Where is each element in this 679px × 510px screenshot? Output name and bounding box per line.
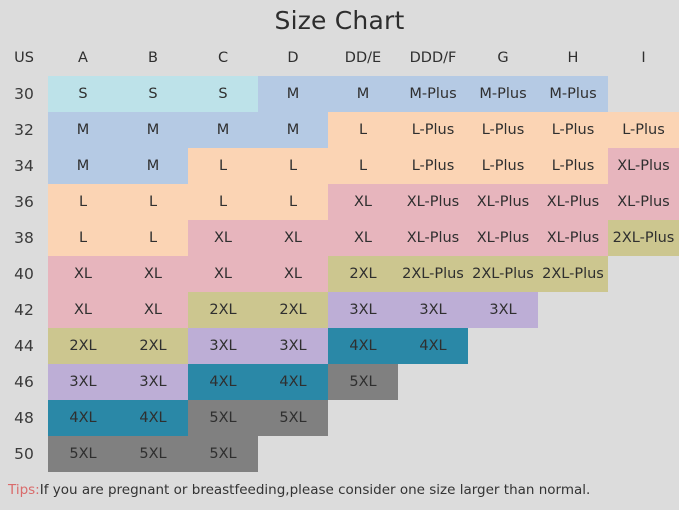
size-cell-30-h: M-Plus (538, 76, 608, 112)
size-cell-46-a: 3XL (48, 364, 118, 400)
page-title: Size Chart (0, 6, 679, 35)
size-cell-40-d: XL (258, 256, 328, 292)
size-cell-44-i (608, 328, 679, 364)
row-header-us-36: 36 (0, 184, 48, 220)
size-cell-34-g: L-Plus (468, 148, 538, 184)
row-header-us-34: 34 (0, 148, 48, 184)
size-cell-40-c: XL (188, 256, 258, 292)
table-row: 38LLXLXLXLXL-PlusXL-PlusXL-Plus2XL-Plus (0, 220, 679, 256)
size-cell-46-dd-e: 5XL (328, 364, 398, 400)
table-row: 505XL5XL5XL (0, 436, 679, 472)
size-cell-50-b: 5XL (118, 436, 188, 472)
size-chart-page: Size Chart US A B C D DD/E DDD/F G (0, 0, 679, 510)
size-cell-34-dd-e: L (328, 148, 398, 184)
table-row: 34MMLLLL-PlusL-PlusL-PlusXL-Plus (0, 148, 679, 184)
size-cell-44-dd-e: 4XL (328, 328, 398, 364)
header-row: US A B C D DD/E DDD/F G H I (0, 40, 679, 76)
size-cell-30-g: M-Plus (468, 76, 538, 112)
size-cell-44-b: 2XL (118, 328, 188, 364)
size-cell-36-i: XL-Plus (608, 184, 679, 220)
size-chart-table: US A B C D DD/E DDD/F G H I 30SSSMMM-Plu… (0, 40, 679, 472)
size-cell-42-dd-e: 3XL (328, 292, 398, 328)
size-cell-44-g (468, 328, 538, 364)
size-cell-40-g: 2XL-Plus (468, 256, 538, 292)
table-header: US A B C D DD/E DDD/F G H I (0, 40, 679, 76)
size-cell-42-a: XL (48, 292, 118, 328)
size-cell-32-a: M (48, 112, 118, 148)
size-cell-48-dd-e (328, 400, 398, 436)
size-cell-30-b: S (118, 76, 188, 112)
size-cell-30-dd-e: M (328, 76, 398, 112)
size-cell-32-dd-e: L (328, 112, 398, 148)
table-row: 442XL2XL3XL3XL4XL4XL (0, 328, 679, 364)
size-cell-36-b: L (118, 184, 188, 220)
size-cell-42-c: 2XL (188, 292, 258, 328)
size-cell-32-b: M (118, 112, 188, 148)
size-cell-46-i (608, 364, 679, 400)
size-cell-40-ddd-f: 2XL-Plus (398, 256, 468, 292)
row-header-us-46: 46 (0, 364, 48, 400)
size-cell-48-b: 4XL (118, 400, 188, 436)
table-row: 30SSSMMM-PlusM-PlusM-Plus (0, 76, 679, 112)
size-cell-36-ddd-f: XL-Plus (398, 184, 468, 220)
row-header-us-38: 38 (0, 220, 48, 256)
size-chart-table-wrapper: US A B C D DD/E DDD/F G H I 30SSSMMM-Plu… (0, 40, 679, 472)
size-cell-32-i: L-Plus (608, 112, 679, 148)
tips-text: If you are pregnant or breastfeeding,ple… (40, 482, 591, 498)
size-cell-40-i (608, 256, 679, 292)
table-row: 42XLXL2XL2XL3XL3XL3XL (0, 292, 679, 328)
size-cell-46-b: 3XL (118, 364, 188, 400)
size-cell-40-h: 2XL-Plus (538, 256, 608, 292)
size-cell-48-i (608, 400, 679, 436)
size-cell-30-c: S (188, 76, 258, 112)
size-cell-50-a: 5XL (48, 436, 118, 472)
size-cell-34-h: L-Plus (538, 148, 608, 184)
size-cell-30-d: M (258, 76, 328, 112)
size-cell-48-d: 5XL (258, 400, 328, 436)
table-row: 484XL4XL5XL5XL (0, 400, 679, 436)
size-cell-48-c: 5XL (188, 400, 258, 436)
size-cell-46-h (538, 364, 608, 400)
size-cell-36-dd-e: XL (328, 184, 398, 220)
column-header-g: G (468, 40, 538, 76)
size-cell-40-b: XL (118, 256, 188, 292)
size-cell-50-ddd-f (398, 436, 468, 472)
column-header-us: US (0, 40, 48, 76)
size-cell-46-c: 4XL (188, 364, 258, 400)
size-cell-50-d (258, 436, 328, 472)
size-cell-38-ddd-f: XL-Plus (398, 220, 468, 256)
size-cell-42-i (608, 292, 679, 328)
size-cell-48-h (538, 400, 608, 436)
row-header-us-42: 42 (0, 292, 48, 328)
size-cell-38-g: XL-Plus (468, 220, 538, 256)
size-cell-36-h: XL-Plus (538, 184, 608, 220)
size-cell-42-b: XL (118, 292, 188, 328)
tips-note: Tips:If you are pregnant or breastfeedin… (8, 482, 590, 498)
column-header-ddd-f: DDD/F (398, 40, 468, 76)
column-header-b: B (118, 40, 188, 76)
size-cell-46-d: 4XL (258, 364, 328, 400)
size-cell-46-g (468, 364, 538, 400)
size-cell-36-d: L (258, 184, 328, 220)
column-header-d: D (258, 40, 328, 76)
size-cell-46-ddd-f (398, 364, 468, 400)
column-header-c: C (188, 40, 258, 76)
size-cell-34-i: XL-Plus (608, 148, 679, 184)
table-row: 36LLLLXLXL-PlusXL-PlusXL-PlusXL-Plus (0, 184, 679, 220)
size-cell-30-a: S (48, 76, 118, 112)
size-cell-48-g (468, 400, 538, 436)
row-header-us-44: 44 (0, 328, 48, 364)
column-header-a: A (48, 40, 118, 76)
row-header-us-30: 30 (0, 76, 48, 112)
row-header-us-40: 40 (0, 256, 48, 292)
size-cell-50-g (468, 436, 538, 472)
size-cell-38-dd-e: XL (328, 220, 398, 256)
size-cell-48-ddd-f (398, 400, 468, 436)
size-cell-40-a: XL (48, 256, 118, 292)
row-header-us-50: 50 (0, 436, 48, 472)
size-cell-38-i: 2XL-Plus (608, 220, 679, 256)
size-cell-50-i (608, 436, 679, 472)
size-cell-34-b: M (118, 148, 188, 184)
table-row: 32MMMMLL-PlusL-PlusL-PlusL-Plus (0, 112, 679, 148)
size-cell-50-h (538, 436, 608, 472)
size-cell-50-dd-e (328, 436, 398, 472)
size-cell-42-d: 2XL (258, 292, 328, 328)
table-row: 463XL3XL4XL4XL5XL (0, 364, 679, 400)
size-cell-38-c: XL (188, 220, 258, 256)
size-cell-36-c: L (188, 184, 258, 220)
size-cell-44-d: 3XL (258, 328, 328, 364)
column-header-dd-e: DD/E (328, 40, 398, 76)
size-cell-32-c: M (188, 112, 258, 148)
size-cell-42-ddd-f: 3XL (398, 292, 468, 328)
size-cell-32-h: L-Plus (538, 112, 608, 148)
size-cell-32-d: M (258, 112, 328, 148)
size-cell-44-ddd-f: 4XL (398, 328, 468, 364)
size-cell-48-a: 4XL (48, 400, 118, 436)
size-cell-40-dd-e: 2XL (328, 256, 398, 292)
size-cell-50-c: 5XL (188, 436, 258, 472)
size-cell-44-c: 3XL (188, 328, 258, 364)
row-header-us-48: 48 (0, 400, 48, 436)
size-cell-34-c: L (188, 148, 258, 184)
size-cell-38-h: XL-Plus (538, 220, 608, 256)
row-header-us-32: 32 (0, 112, 48, 148)
column-header-h: H (538, 40, 608, 76)
size-cell-32-g: L-Plus (468, 112, 538, 148)
size-cell-34-ddd-f: L-Plus (398, 148, 468, 184)
size-cell-38-a: L (48, 220, 118, 256)
size-cell-34-d: L (258, 148, 328, 184)
size-cell-38-d: XL (258, 220, 328, 256)
size-cell-38-b: L (118, 220, 188, 256)
size-cell-30-ddd-f: M-Plus (398, 76, 468, 112)
size-cell-30-i (608, 76, 679, 112)
size-cell-36-a: L (48, 184, 118, 220)
tips-label: Tips: (8, 482, 40, 498)
size-cell-42-g: 3XL (468, 292, 538, 328)
table-body: 30SSSMMM-PlusM-PlusM-Plus32MMMMLL-PlusL-… (0, 76, 679, 472)
column-header-i: I (608, 40, 679, 76)
size-cell-42-h (538, 292, 608, 328)
size-cell-34-a: M (48, 148, 118, 184)
table-row: 40XLXLXLXL2XL2XL-Plus2XL-Plus2XL-Plus (0, 256, 679, 292)
size-cell-44-a: 2XL (48, 328, 118, 364)
size-cell-32-ddd-f: L-Plus (398, 112, 468, 148)
size-cell-36-g: XL-Plus (468, 184, 538, 220)
size-cell-44-h (538, 328, 608, 364)
